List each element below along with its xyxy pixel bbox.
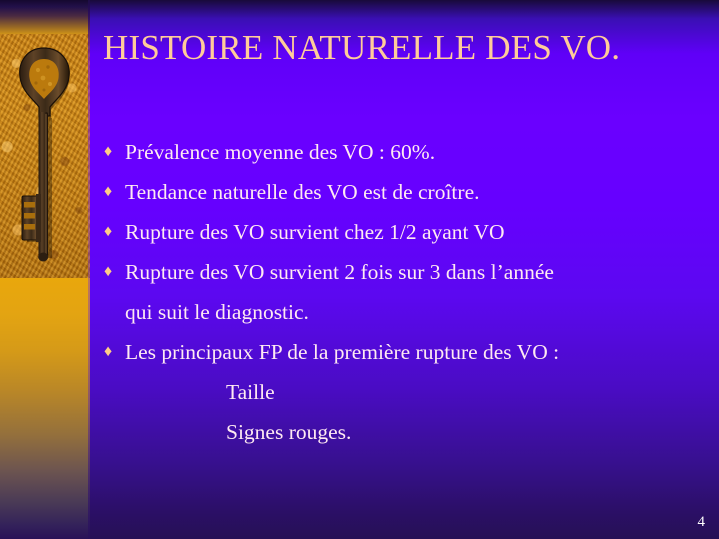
slide-body: ♦ Prévalence moyenne des VO : 60%. ♦ Ten… <box>104 132 708 452</box>
page-number: 4 <box>698 513 706 531</box>
presentation-slide: HISTOIRE NATURELLE DES VO. ♦ Prévalence … <box>0 0 719 539</box>
bullet-item-5: ♦ Les principaux FP de la première ruptu… <box>104 332 708 372</box>
sidebar-edge-glow <box>88 0 90 539</box>
sidebar-gold-gradient <box>0 278 90 539</box>
bullet-item-1-text: Prévalence moyenne des VO : 60%. <box>125 132 708 172</box>
diamond-bullet-icon: ♦ <box>104 212 125 252</box>
bullet-item-5-text: Les principaux FP de la première rupture… <box>125 332 708 372</box>
bullet-item-2-text: Tendance naturelle des VO est de croître… <box>125 172 708 212</box>
sidebar-top-gradient <box>0 0 90 38</box>
bullet-item-1: ♦ Prévalence moyenne des VO : 60%. <box>104 132 708 172</box>
diamond-bullet-icon: ♦ <box>104 332 125 372</box>
slide-title: HISTOIRE NATURELLE DES VO. <box>103 26 703 69</box>
diamond-bullet-icon: ♦ <box>104 132 125 172</box>
bullet-item-4-line-1: Rupture des VO survient 2 fois sur 3 dan… <box>125 252 708 292</box>
diamond-bullet-icon: ♦ <box>104 172 125 212</box>
subline-item-1: Taille <box>104 372 708 412</box>
bullet-item-4-text: Rupture des VO survient 2 fois sur 3 dan… <box>125 252 708 332</box>
bullet-item-3: ♦ Rupture des VO survient chez 1/2 ayant… <box>104 212 708 252</box>
sidebar-decoration <box>0 0 90 539</box>
antique-key-icon <box>14 44 76 269</box>
bullet-item-2: ♦ Tendance naturelle des VO est de croît… <box>104 172 708 212</box>
bullet-item-4: ♦ Rupture des VO survient 2 fois sur 3 d… <box>104 252 708 332</box>
bullet-item-4-line-2: qui suit le diagnostic. <box>125 292 708 332</box>
subline-item-2: Signes rouges. <box>104 412 708 452</box>
bullet-item-3-text: Rupture des VO survient chez 1/2 ayant V… <box>125 212 708 252</box>
diamond-bullet-icon: ♦ <box>104 252 125 292</box>
